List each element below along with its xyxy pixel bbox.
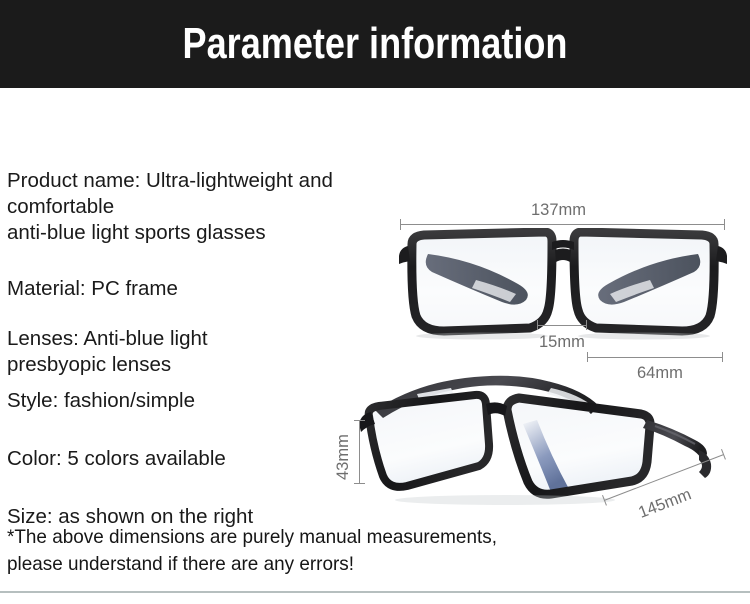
dimension-label-lens-width: 64mm — [637, 364, 683, 383]
eyeglasses-angled-view-image — [355, 366, 715, 516]
dimension-line-bridge-width — [537, 325, 587, 326]
spec-product-name: Product name: Ultra-lightweight and comf… — [7, 168, 407, 246]
dimension-label-total-width: 137mm — [531, 201, 586, 220]
dimension-cap-top-lens-height — [354, 420, 365, 421]
dimension-line-total-width — [400, 224, 725, 225]
dimension-cap-right-total-width — [724, 219, 725, 230]
measurement-disclaimer: *The above dimensions are purely manual … — [7, 524, 647, 578]
bottom-divider — [0, 591, 750, 593]
page-title: Parameter information — [68, 0, 683, 88]
spec-material: Material: PC frame — [7, 276, 407, 302]
dimension-cap-right-lens-width — [722, 352, 723, 362]
dimension-cap-bottom-lens-height — [354, 483, 365, 484]
header-banner: Parameter information — [0, 0, 750, 88]
dimension-cap-left-bridge-width — [537, 320, 538, 330]
dimension-label-lens-height: 43mm — [334, 434, 353, 480]
eyeglasses-front-view-image — [398, 228, 728, 340]
parameter-information-page: Parameter information Product name: Ultr… — [0, 0, 750, 604]
dimension-line-lens-width — [587, 357, 723, 358]
dimension-cap-left-total-width — [400, 219, 401, 230]
spec-lenses: Lenses: Anti-blue light presbyopic lense… — [7, 326, 407, 378]
dimension-label-bridge-width: 15mm — [539, 333, 585, 352]
dimension-line-lens-height — [359, 420, 360, 483]
dimension-cap-right-bridge-width — [586, 320, 587, 330]
spec-style: Style: fashion/simple — [7, 388, 407, 414]
dimension-cap-left-lens-width — [587, 352, 588, 362]
